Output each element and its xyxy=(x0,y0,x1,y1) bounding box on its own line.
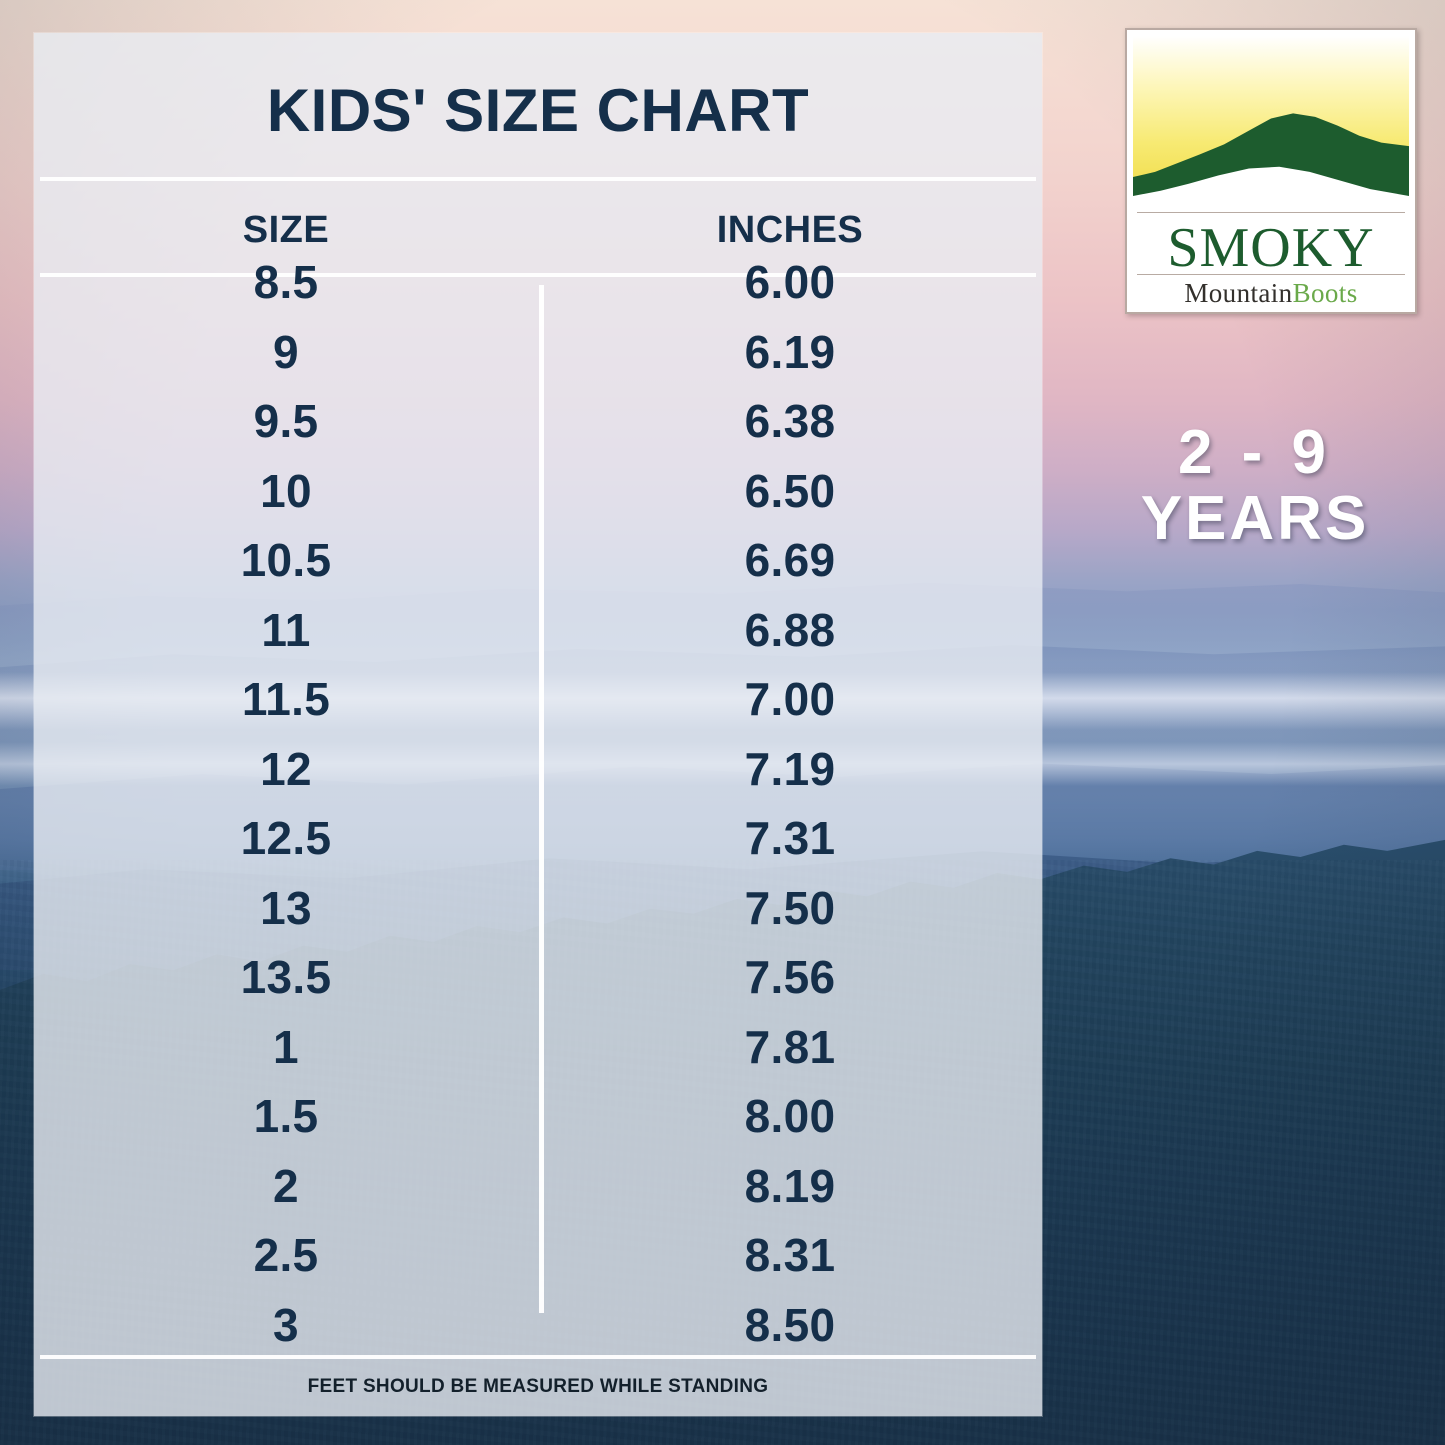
table-row: 17.81 xyxy=(34,1013,1042,1083)
table-row: 38.50 xyxy=(34,1291,1042,1361)
table-row: 106.50 xyxy=(34,457,1042,527)
cell-size: 12.5 xyxy=(34,804,538,874)
cell-size: 2.5 xyxy=(34,1221,538,1291)
cell-size: 2 xyxy=(34,1152,538,1222)
cell-size: 1 xyxy=(34,1013,538,1083)
cell-inches: 8.31 xyxy=(538,1221,1042,1291)
table-row: 11.57.00 xyxy=(34,665,1042,735)
cell-size: 10 xyxy=(34,457,538,527)
table-row: 127.19 xyxy=(34,735,1042,805)
table-row: 8.56.00 xyxy=(34,248,1042,318)
table-header-row: SIZE INCHES xyxy=(34,206,1042,254)
table-row: 13.57.56 xyxy=(34,943,1042,1013)
cell-size: 3 xyxy=(34,1291,538,1361)
table-row: 1.58.00 xyxy=(34,1082,1042,1152)
cell-inches: 7.56 xyxy=(538,943,1042,1013)
cell-inches: 6.88 xyxy=(538,596,1042,666)
divider-under-title xyxy=(40,177,1036,181)
cell-inches: 7.31 xyxy=(538,804,1042,874)
age-range-callout: 2 - 9 YEARS xyxy=(1060,420,1445,551)
table-row: 2.58.31 xyxy=(34,1221,1042,1291)
cell-size: 9.5 xyxy=(34,387,538,457)
logo-rule-bottom xyxy=(1137,274,1405,275)
column-header-size: SIZE xyxy=(34,206,538,254)
table-row: 28.19 xyxy=(34,1152,1042,1222)
cell-inches: 8.19 xyxy=(538,1152,1042,1222)
logo-word-boots: Boots xyxy=(1293,278,1358,308)
divider-above-footnote xyxy=(40,1355,1036,1359)
cell-size: 11.5 xyxy=(34,665,538,735)
cell-size: 12 xyxy=(34,735,538,805)
table-row: 10.56.69 xyxy=(34,526,1042,596)
logo-wordmark-smoky: SMOKY xyxy=(1127,220,1415,276)
cell-inches: 7.81 xyxy=(538,1013,1042,1083)
column-header-inches: INCHES xyxy=(538,206,1042,254)
cell-inches: 6.19 xyxy=(538,318,1042,388)
table-row: 12.57.31 xyxy=(34,804,1042,874)
cell-inches: 6.38 xyxy=(538,387,1042,457)
table-body: 8.56.0096.199.56.38106.5010.56.69116.881… xyxy=(34,248,1042,1360)
logo-word-mountain: Mountain xyxy=(1184,278,1292,308)
logo-wordmark-mountainboots: MountainBoots xyxy=(1127,280,1415,307)
cell-inches: 8.50 xyxy=(538,1291,1042,1361)
page-title: KIDS' SIZE CHART xyxy=(34,81,1042,141)
cell-size: 13.5 xyxy=(34,943,538,1013)
cell-inches: 7.00 xyxy=(538,665,1042,735)
cell-inches: 6.50 xyxy=(538,457,1042,527)
cell-size: 1.5 xyxy=(34,1082,538,1152)
cell-size: 13 xyxy=(34,874,538,944)
table-row: 96.19 xyxy=(34,318,1042,388)
cell-inches: 8.00 xyxy=(538,1082,1042,1152)
cell-size: 11 xyxy=(34,596,538,666)
cell-inches: 7.19 xyxy=(538,735,1042,805)
age-range-numbers: 2 - 9 xyxy=(1060,420,1445,486)
measurement-note: FEET SHOULD BE MEASURED WHILE STANDING xyxy=(34,1376,1042,1398)
age-range-unit: YEARS xyxy=(1060,486,1445,552)
cell-size: 10.5 xyxy=(34,526,538,596)
size-chart-panel: KIDS' SIZE CHART SIZE INCHES 8.56.0096.1… xyxy=(34,33,1042,1416)
brand-logo: SMOKY MountainBoots xyxy=(1125,28,1417,314)
table-row: 9.56.38 xyxy=(34,387,1042,457)
cell-inches: 6.00 xyxy=(538,248,1042,318)
size-chart-image: KIDS' SIZE CHART SIZE INCHES 8.56.0096.1… xyxy=(0,0,1445,1445)
cell-inches: 7.50 xyxy=(538,874,1042,944)
cell-size: 9 xyxy=(34,318,538,388)
cell-inches: 6.69 xyxy=(538,526,1042,596)
logo-rule-top xyxy=(1137,212,1405,213)
table-row: 116.88 xyxy=(34,596,1042,666)
cell-size: 8.5 xyxy=(34,248,538,318)
table-row: 137.50 xyxy=(34,874,1042,944)
